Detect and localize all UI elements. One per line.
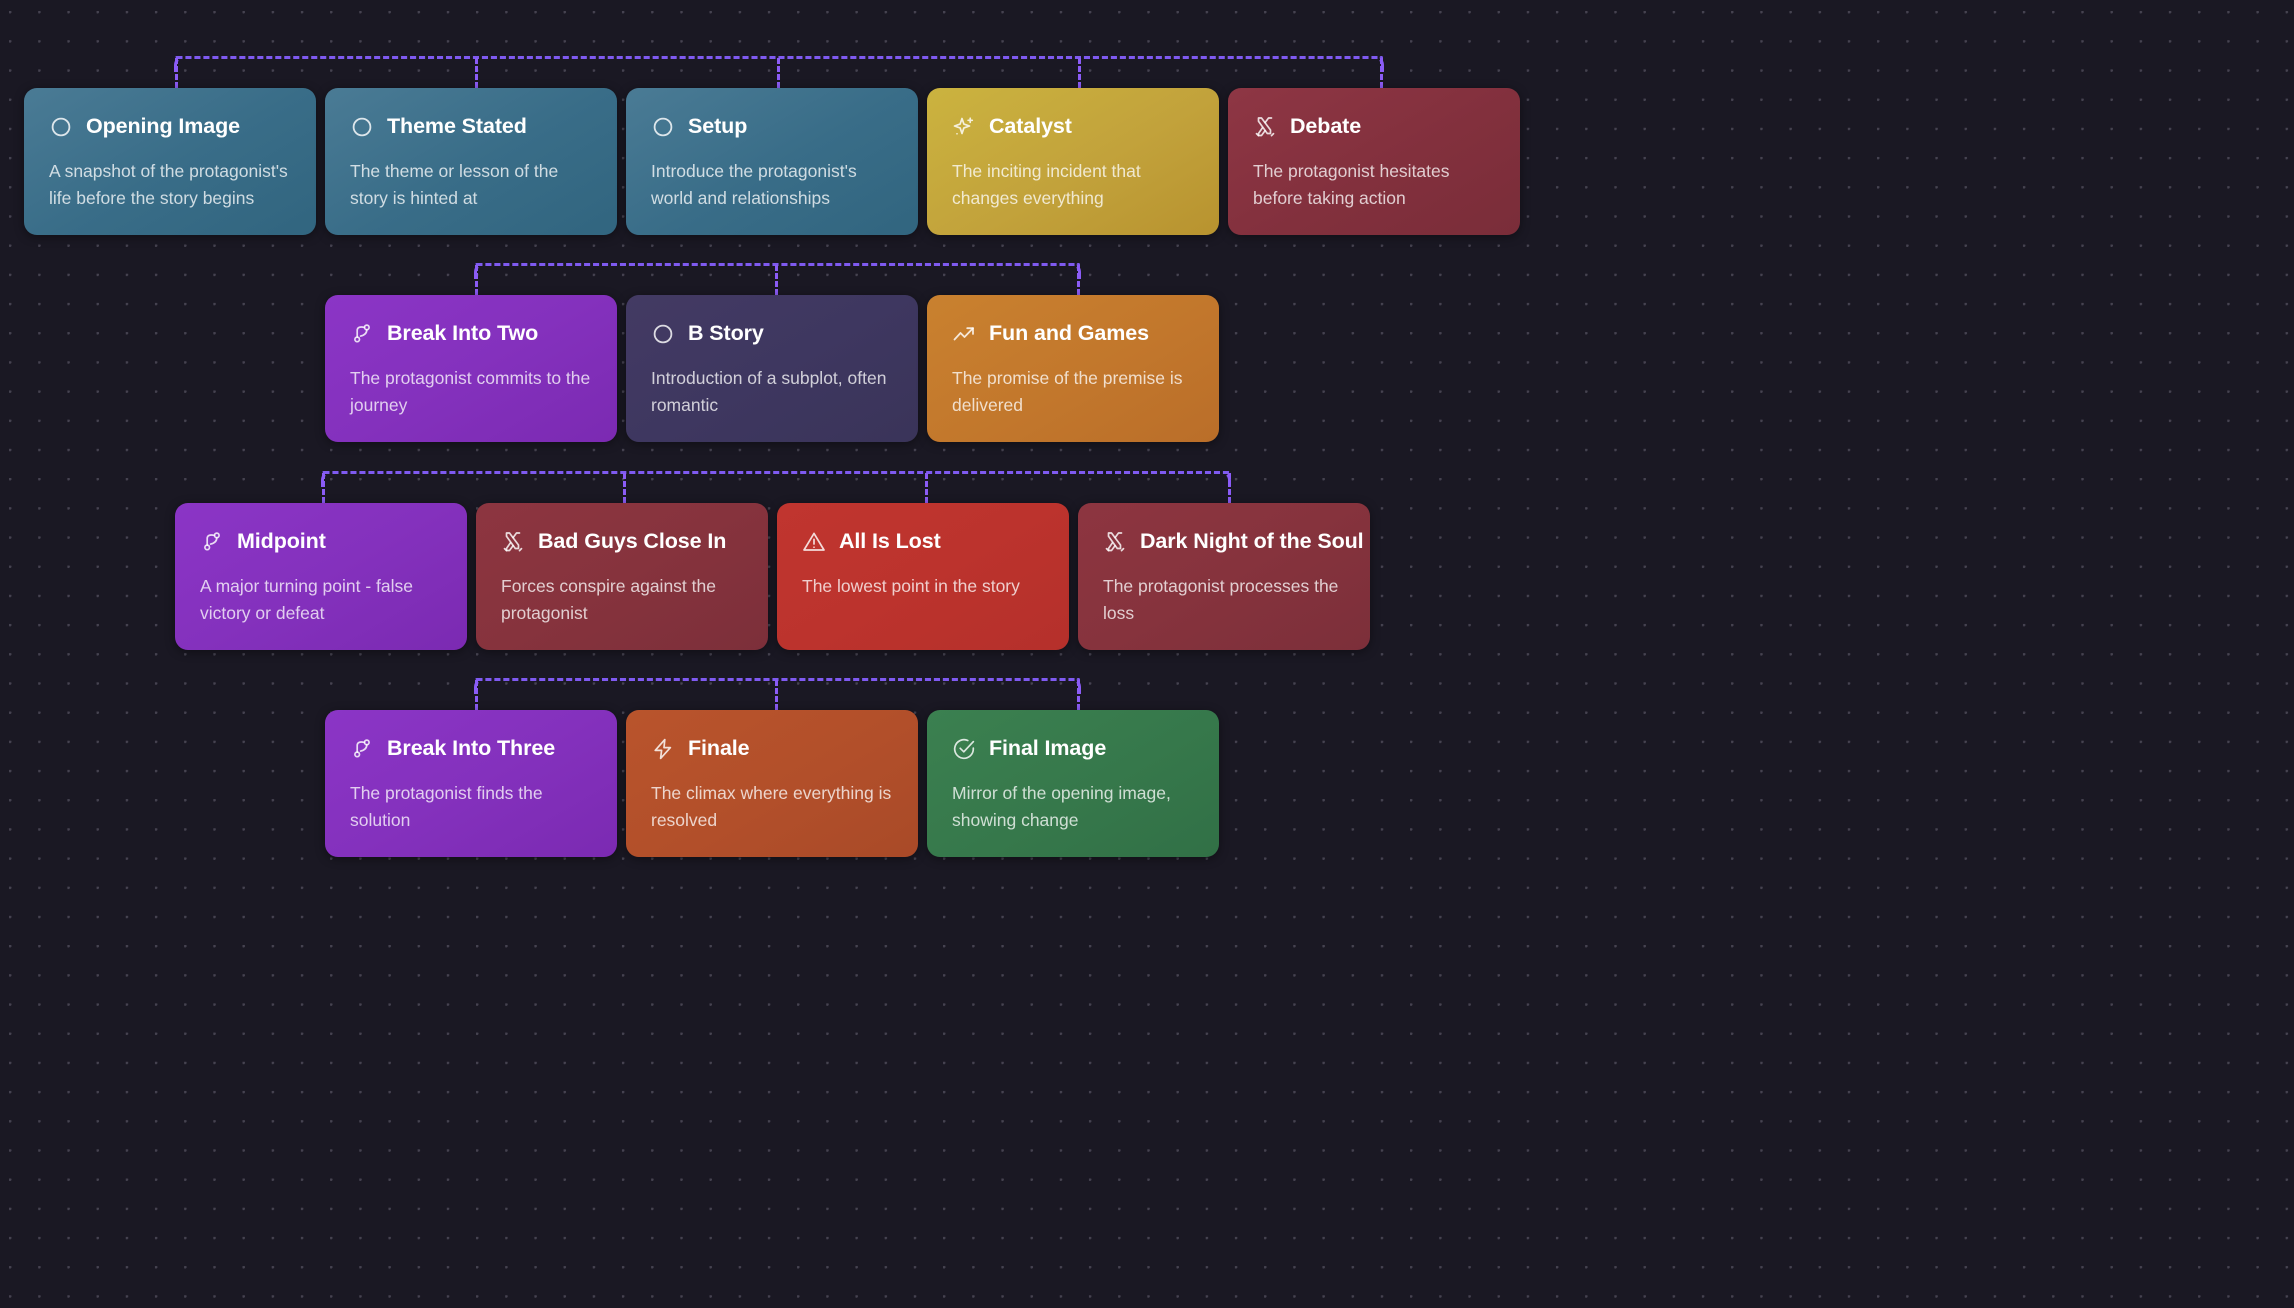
beat-card-description: The protagonist commits to the journey bbox=[350, 365, 592, 418]
beat-card[interactable]: Break Into TwoThe protagonist commits to… bbox=[325, 295, 617, 442]
git-branch-icon bbox=[350, 322, 374, 346]
row-connector-act-two-a bbox=[475, 263, 1080, 297]
connector-stub bbox=[475, 265, 478, 295]
circle-icon bbox=[49, 115, 73, 139]
alert-triangle-icon bbox=[802, 530, 826, 554]
beat-card-description: The protagonist finds the solution bbox=[350, 780, 592, 833]
connector-line bbox=[475, 678, 1080, 681]
beat-card-header: Midpoint bbox=[200, 529, 442, 554]
beat-card-description: The promise of the premise is delivered bbox=[952, 365, 1194, 418]
beat-card[interactable]: Opening ImageA snapshot of the protagoni… bbox=[24, 88, 316, 235]
beat-card-header: Bad Guys Close In bbox=[501, 529, 743, 554]
connector-stub bbox=[1077, 265, 1080, 295]
connector-stub bbox=[1380, 58, 1383, 88]
beat-card-header: Opening Image bbox=[49, 114, 291, 139]
beat-card-description: Forces conspire against the protagonist bbox=[501, 573, 743, 626]
connector-stub bbox=[775, 265, 778, 295]
row-connector-act-three bbox=[475, 678, 1080, 712]
beat-card-title: Debate bbox=[1290, 114, 1361, 139]
beat-card-title: Break Into Two bbox=[387, 321, 538, 346]
card-row-act-two-b: MidpointA major turning point - false vi… bbox=[175, 503, 1370, 650]
beat-card-description: Mirror of the opening image, showing cha… bbox=[952, 780, 1194, 833]
beat-card[interactable]: CatalystThe inciting incident that chang… bbox=[927, 88, 1219, 235]
beat-card[interactable]: All Is LostThe lowest point in the story bbox=[777, 503, 1069, 650]
circle-icon bbox=[350, 115, 374, 139]
connector-corner-right bbox=[1065, 263, 1081, 279]
beat-card-header: All Is Lost bbox=[802, 529, 1044, 554]
beat-card-title: B Story bbox=[688, 321, 764, 346]
beat-card-header: Finale bbox=[651, 736, 893, 761]
beat-card-title: All Is Lost bbox=[839, 529, 941, 554]
beat-card[interactable]: MidpointA major turning point - false vi… bbox=[175, 503, 467, 650]
beat-card-header: Fun and Games bbox=[952, 321, 1194, 346]
card-row-act-three: Break Into ThreeThe protagonist finds th… bbox=[325, 710, 1219, 857]
circle-icon bbox=[651, 115, 675, 139]
connector-stub bbox=[1078, 58, 1081, 88]
beat-card-description: The inciting incident that changes every… bbox=[952, 158, 1194, 211]
beat-card-title: Midpoint bbox=[237, 529, 326, 554]
beat-card-title: Catalyst bbox=[989, 114, 1072, 139]
beat-card-header: Break Into Two bbox=[350, 321, 592, 346]
row-connector-act-two-b bbox=[322, 471, 1230, 505]
check-circle-icon bbox=[952, 737, 976, 761]
beat-card-header: Setup bbox=[651, 114, 893, 139]
beat-card[interactable]: SetupIntroduce the protagonist's world a… bbox=[626, 88, 918, 235]
connector-corner-left bbox=[474, 263, 490, 279]
beat-card-header: Break Into Three bbox=[350, 736, 592, 761]
connector-line bbox=[175, 56, 1383, 59]
connector-corner-left bbox=[474, 678, 490, 694]
git-branch-icon bbox=[350, 737, 374, 761]
beat-card-description: Introduce the protagonist's world and re… bbox=[651, 158, 893, 211]
connector-line bbox=[322, 471, 1230, 474]
connector-corner-right bbox=[1368, 56, 1384, 72]
beat-card-header: Theme Stated bbox=[350, 114, 592, 139]
connector-corner-left bbox=[174, 56, 190, 72]
beat-card[interactable]: Fun and GamesThe promise of the premise … bbox=[927, 295, 1219, 442]
beat-card-title: Finale bbox=[688, 736, 750, 761]
beat-card-header: Dark Night of the Soul bbox=[1103, 529, 1345, 554]
beat-card-description: A major turning point - false victory or… bbox=[200, 573, 442, 626]
connector-line bbox=[475, 263, 1080, 266]
connector-stub bbox=[322, 473, 325, 503]
beat-card-title: Fun and Games bbox=[989, 321, 1149, 346]
connector-corner-left bbox=[321, 471, 337, 487]
card-row-act-one: Opening ImageA snapshot of the protagoni… bbox=[24, 88, 1520, 235]
connector-corner-right bbox=[1215, 471, 1231, 487]
beat-card[interactable]: Bad Guys Close InForces conspire against… bbox=[476, 503, 768, 650]
crossed-swords-icon bbox=[1253, 115, 1277, 139]
beat-card[interactable]: Break Into ThreeThe protagonist finds th… bbox=[325, 710, 617, 857]
beat-card-description: The lowest point in the story bbox=[802, 573, 1044, 600]
beat-card-header: Debate bbox=[1253, 114, 1495, 139]
zap-icon bbox=[651, 737, 675, 761]
beat-card-title: Bad Guys Close In bbox=[538, 529, 726, 554]
beat-card-description: Introduction of a subplot, often romanti… bbox=[651, 365, 893, 418]
crossed-swords-icon bbox=[1103, 530, 1127, 554]
beat-card-description: A snapshot of the protagonist's life bef… bbox=[49, 158, 291, 211]
beat-card-header: Final Image bbox=[952, 736, 1194, 761]
connector-stub bbox=[475, 58, 478, 88]
beat-card-title: Break Into Three bbox=[387, 736, 555, 761]
row-connector-act-one bbox=[175, 56, 1383, 90]
connector-stub bbox=[775, 680, 778, 710]
beat-sheet-board: Opening ImageA snapshot of the protagoni… bbox=[0, 0, 2294, 1308]
circle-icon bbox=[651, 322, 675, 346]
git-branch-icon bbox=[200, 530, 224, 554]
beat-card-header: Catalyst bbox=[952, 114, 1194, 139]
beat-card[interactable]: B StoryIntroduction of a subplot, often … bbox=[626, 295, 918, 442]
beat-card-description: The climax where everything is resolved bbox=[651, 780, 893, 833]
crossed-swords-icon bbox=[501, 530, 525, 554]
beat-card-title: Final Image bbox=[989, 736, 1106, 761]
connector-stub bbox=[1228, 473, 1231, 503]
beat-card[interactable]: Final ImageMirror of the opening image, … bbox=[927, 710, 1219, 857]
beat-card-header: B Story bbox=[651, 321, 893, 346]
beat-card-description: The protagonist processes the loss bbox=[1103, 573, 1345, 626]
beat-card-description: The protagonist hesitates before taking … bbox=[1253, 158, 1495, 211]
beat-card[interactable]: Theme StatedThe theme or lesson of the s… bbox=[325, 88, 617, 235]
connector-stub bbox=[175, 58, 178, 88]
card-row-act-two-a: Break Into TwoThe protagonist commits to… bbox=[325, 295, 1219, 442]
beat-card-title: Opening Image bbox=[86, 114, 240, 139]
beat-card-title: Setup bbox=[688, 114, 747, 139]
connector-corner-right bbox=[1065, 678, 1081, 694]
beat-card[interactable]: FinaleThe climax where everything is res… bbox=[626, 710, 918, 857]
beat-card-description: The theme or lesson of the story is hint… bbox=[350, 158, 592, 211]
beat-card-title: Dark Night of the Soul bbox=[1140, 529, 1364, 554]
beat-card-title: Theme Stated bbox=[387, 114, 527, 139]
connector-stub bbox=[623, 473, 626, 503]
connector-stub bbox=[1077, 680, 1080, 710]
connector-stub bbox=[925, 473, 928, 503]
beat-card[interactable]: Dark Night of the SoulThe protagonist pr… bbox=[1078, 503, 1370, 650]
sparkles-icon bbox=[952, 115, 976, 139]
trending-up-icon bbox=[952, 322, 976, 346]
connector-stub bbox=[777, 58, 780, 88]
connector-stub bbox=[475, 680, 478, 710]
beat-card[interactable]: DebateThe protagonist hesitates before t… bbox=[1228, 88, 1520, 235]
